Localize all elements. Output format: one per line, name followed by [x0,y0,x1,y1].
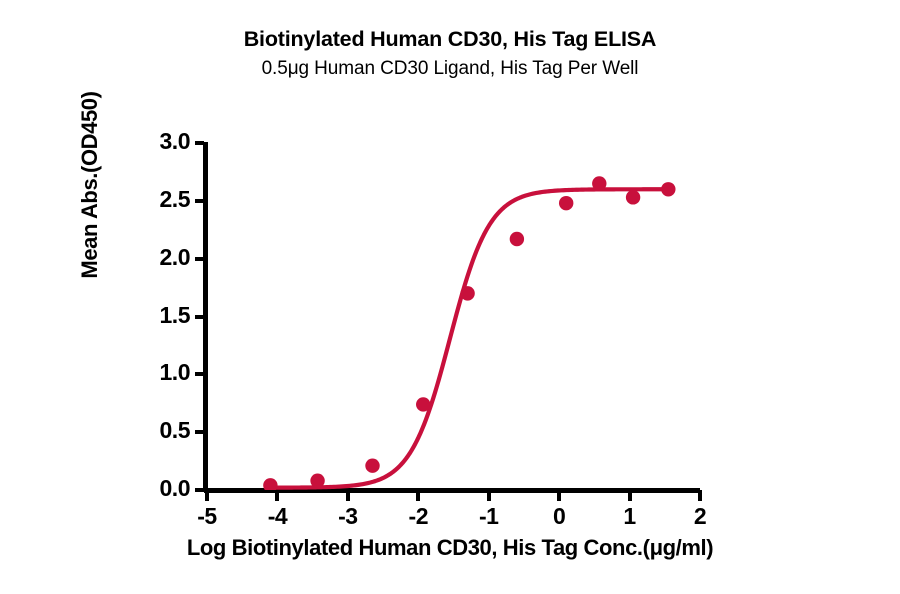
y-tick-label: 2.5 [118,186,190,213]
chart-subtitle: 0.5μg Human CD30 Ligand, His Tag Per Wel… [0,56,900,82]
x-tick-label: -4 [253,503,301,530]
x-tick-label: -2 [394,503,442,530]
x-tick-mark [698,490,702,501]
data-point [416,397,430,411]
plot-area [207,143,700,490]
y-tick-mark [195,257,204,261]
data-point-group [263,176,675,490]
x-tick-mark [275,490,279,501]
y-tick-mark [195,141,204,145]
x-tick-mark [557,490,561,501]
x-tick-mark [487,490,491,501]
data-point [263,478,277,490]
y-tick-label: 2.0 [118,244,190,271]
y-tick-mark [195,372,204,376]
x-tick-label: -1 [465,503,513,530]
elisa-chart-figure: Biotinylated Human CD30, His Tag ELISA 0… [0,0,900,594]
x-tick-mark [346,490,350,501]
title-block: Biotinylated Human CD30, His Tag ELISA 0… [0,26,900,82]
y-tick-label: 1.5 [118,302,190,329]
x-tick-mark [416,490,420,501]
y-tick-mark [195,488,204,492]
y-tick-mark [195,430,204,434]
data-point [661,182,675,196]
y-tick-label: 1.0 [118,359,190,386]
y-tick-label: 3.0 [118,128,190,155]
x-tick-label: 0 [535,503,583,530]
x-tick-label: 2 [676,503,724,530]
chart-title: Biotinylated Human CD30, His Tag ELISA [0,26,900,52]
x-tick-label: -5 [183,503,231,530]
data-point [460,286,474,300]
data-point [559,196,573,210]
plot-canvas [207,143,700,490]
x-tick-mark [628,490,632,501]
data-point [310,474,324,488]
sigmoid-fit-curve [270,189,668,487]
data-point [626,190,640,204]
data-point [592,176,606,190]
y-tick-mark [195,199,204,203]
x-axis-title: Log Biotinylated Human CD30, His Tag Con… [0,535,900,561]
y-tick-label: 0.5 [118,417,190,444]
x-tick-label: -3 [324,503,372,530]
data-point [365,459,379,473]
x-tick-label: 1 [606,503,654,530]
y-axis-title: Mean Abs.(OD450) [77,20,103,350]
data-point [510,232,524,246]
y-tick-label: 0.0 [118,475,190,502]
x-tick-mark [205,490,209,501]
y-tick-mark [195,315,204,319]
